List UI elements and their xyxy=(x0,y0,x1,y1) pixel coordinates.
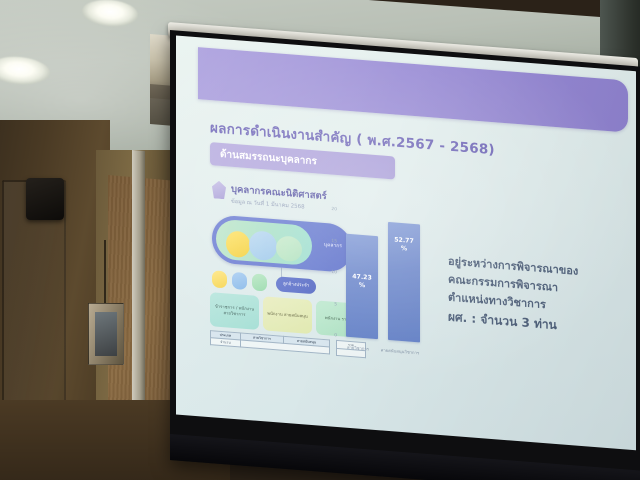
node-dot-academic xyxy=(212,270,227,288)
bar-support: 52.77% xyxy=(388,222,420,343)
wall-cable xyxy=(104,240,106,310)
capsule-segment-blue xyxy=(249,230,277,261)
node-pill-label: ลูกจ้างประจำ xyxy=(276,276,316,294)
table-cell: จำนวน xyxy=(211,338,241,347)
info-card: พนักงาน สายสนับสนุน xyxy=(263,296,312,334)
y-tick-label: 20 xyxy=(331,207,337,212)
ceiling-speaker-icon xyxy=(26,178,64,220)
bar-value-label: 52.77% xyxy=(388,236,420,254)
presentation-slide: ผลการดำเนินงานสำคัญ ( พ.ศ.2567 - 2568) ด… xyxy=(176,35,636,450)
node-dot-support xyxy=(232,272,247,290)
chart-y-axis: 20 15 10 5 0 xyxy=(324,209,340,336)
photo-scene: ผลการดำเนินงานสำคัญ ( พ.ศ.2567 - 2568) ด… xyxy=(0,0,640,480)
x-tick-label: สายสนับสนุนวิชาการ xyxy=(380,346,420,356)
faculty-logo-icon xyxy=(212,180,226,199)
infographic-header: บุคลากรคณะนิติศาสตร์ ข้อมูล ณ วันที่ 1 ม… xyxy=(212,180,327,213)
chart-plot-area: 47.23% 52.77% xyxy=(340,210,434,343)
info-card: ข้าราชการ / พนักงาน สายวิชาการ xyxy=(210,292,259,330)
bar-academic: 47.23% xyxy=(346,233,378,339)
capsule-segment-yellow xyxy=(226,230,250,258)
bar-value-label: 47.23% xyxy=(346,273,378,291)
capsule-inner xyxy=(216,219,312,266)
y-tick-label: 5 xyxy=(334,302,337,307)
x-tick-label: สายวิชาการ xyxy=(338,343,378,353)
capsule-segment-green xyxy=(276,235,302,262)
node-dot-government xyxy=(252,273,267,291)
note-text-block: อยู่ระหว่างการพิจารณาของ คณะกรรมการพิจาร… xyxy=(448,253,623,341)
electrical-box xyxy=(88,303,124,365)
bar-chart: 20 15 10 5 0 47.23% 52.77% สายวิชาการ สา… xyxy=(324,205,436,362)
y-tick-label: 0 xyxy=(334,333,337,338)
projector-screen: ผลการดำเนินงานสำคัญ ( พ.ศ.2567 - 2568) ด… xyxy=(170,30,640,480)
subtitle-label: ด้านสมรรถนะบุคลากร xyxy=(220,147,317,170)
y-tick-label: 10 xyxy=(331,270,337,275)
y-tick-label: 15 xyxy=(331,239,337,244)
